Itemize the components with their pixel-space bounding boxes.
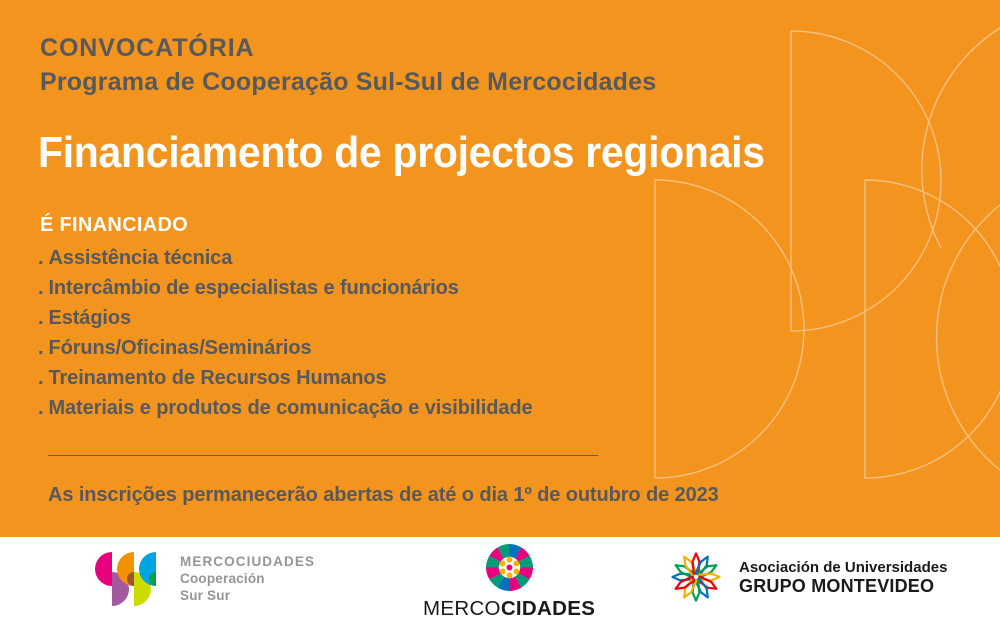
logo-mercocidades-wordmark: MERCOCIDADES [423,597,595,621]
hero-panel: CONVOCATÓRIA Programa de Cooperação Sul-… [0,0,1000,537]
funded-items-list: .Assistência técnica.Intercâmbio de espe… [38,243,533,423]
logo-mc-text-regular: MERCO [423,597,501,620]
bullet-marker: . [38,397,43,419]
list-item: .Estágios [38,303,533,333]
logo-mercocidades: MERCOCIDADES [423,543,595,621]
logo-augm-text: Asociación de Universidades GRUPO MONTEV… [739,558,947,596]
list-item: .Materiais e produtos de comunicação e v… [38,393,533,423]
kicker-line-2: Programa de Cooperação Sul-Sul de Mercoc… [40,68,656,97]
footer-logos: MERCOCIUDADES Cooperación Sur Sur [0,537,1000,625]
list-item-label: Assistência técnica [48,247,232,269]
logo-augm-line-2: GRUPO MONTEVIDEO [739,577,947,596]
page-title: Financiamento de projectos regionais [38,128,765,178]
sunburst-icon [668,549,724,605]
bullet-marker: . [38,307,43,329]
logo-grupo-montevideo: Asociación de Universidades GRUPO MONTEV… [668,549,947,605]
logo-mc-text-bold: CIDADES [501,597,595,620]
list-item-label: Estágios [48,307,131,329]
list-item-label: Materiais e produtos de comunicação e vi… [48,397,532,419]
logo-mcss-line-1: MERCOCIUDADES [180,553,315,570]
list-item: .Fóruns/Oficinas/Seminários [38,333,533,363]
logo-mcss-text: MERCOCIUDADES Cooperación Sur Sur [180,553,315,604]
bullet-marker: . [38,277,43,299]
poster-canvas: CONVOCATÓRIA Programa de Cooperação Sul-… [0,0,1000,625]
list-item-label: Treinamento de Recursos Humanos [48,367,386,389]
list-heading: É FINANCIADO [40,214,188,237]
kicker-line-1: CONVOCATÓRIA [40,34,255,63]
bullet-marker: . [38,247,43,269]
list-item-label: Intercâmbio de especialistas e funcionár… [48,277,458,299]
three-half-disc-icon [88,547,166,609]
list-item: .Assistência técnica [38,243,533,273]
logo-mcss-line-2: Cooperación [180,570,315,587]
divider-rule [48,455,598,456]
hero-content: CONVOCATÓRIA Programa de Cooperação Sul-… [0,0,1000,537]
mosaic-circle-icon [485,543,534,592]
list-item: .Intercâmbio de especialistas e funcioná… [38,273,533,303]
bullet-marker: . [38,337,43,359]
list-item: .Treinamento de Recursos Humanos [38,363,533,393]
logo-mcss-line-3: Sur Sur [180,587,315,604]
bullet-marker: . [38,367,43,389]
logo-mercociudades-cooperacion-sur-sur: MERCOCIUDADES Cooperación Sur Sur [88,547,315,609]
deadline-text: As inscrições permanecerão abertas de at… [48,484,719,507]
logo-augm-line-1: Asociación de Universidades [739,558,947,577]
list-item-label: Fóruns/Oficinas/Seminários [48,337,311,359]
